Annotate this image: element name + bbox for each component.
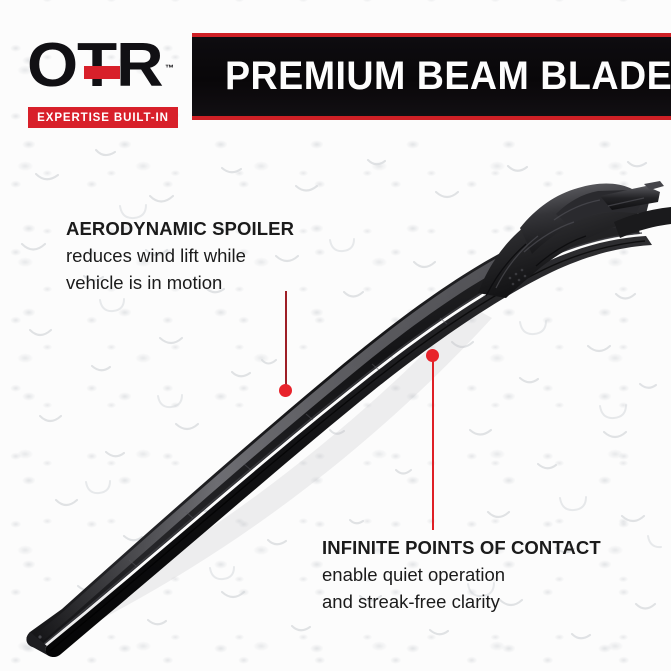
callout-line-2: and streak-free clarity: [322, 588, 601, 615]
callout-aerodynamic-spoiler: AERODYNAMIC SPOILER reduces wind lift wh…: [66, 216, 294, 296]
logo-red-bar-icon: [84, 66, 120, 79]
callout-marker-dot-spoiler: [279, 384, 292, 397]
blade-tip-rivet: [38, 635, 41, 638]
brand-logo[interactable]: OTR ™ EXPERTISE BUILT-IN: [27, 32, 179, 130]
title-banner: PREMIUM BEAM BLADE: [192, 33, 671, 120]
brand-tagline-text: EXPERTISE BUILT-IN: [37, 112, 169, 124]
callout-leader-line-contact: [432, 358, 434, 530]
header: OTR ™ EXPERTISE BUILT-IN PREMIUM BEAM BL…: [0, 0, 671, 140]
callout-infinite-points-of-contact: INFINITE POINTS OF CONTACT enable quiet …: [322, 535, 601, 615]
page-title: PREMIUM BEAM BLADE: [225, 54, 671, 99]
callout-heading: AERODYNAMIC SPOILER: [66, 216, 294, 242]
trademark-symbol: ™: [165, 63, 174, 73]
product-infographic: OTR ™ EXPERTISE BUILT-IN PREMIUM BEAM BL…: [0, 0, 671, 671]
callout-line-1: reduces wind lift while: [66, 242, 294, 269]
callout-heading: INFINITE POINTS OF CONTACT: [322, 535, 601, 561]
callout-marker-dot-contact: [426, 349, 439, 362]
callout-leader-line-spoiler: [285, 291, 287, 387]
callout-line-2: vehicle is in motion: [66, 269, 294, 296]
brand-tagline-banner: EXPERTISE BUILT-IN: [28, 107, 178, 128]
callout-line-1: enable quiet operation: [322, 561, 601, 588]
